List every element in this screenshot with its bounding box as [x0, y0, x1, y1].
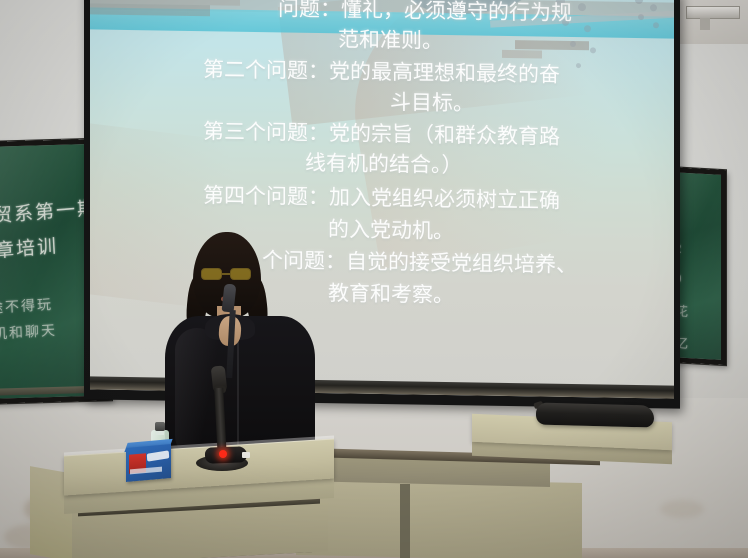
light-bracket	[700, 18, 710, 30]
glasses-icon	[201, 268, 255, 281]
glasses-bridge	[222, 273, 230, 275]
red-led-indicator	[219, 450, 227, 458]
ceiling-light-icon	[686, 6, 740, 19]
slide-line: 的入党动机。	[328, 219, 454, 242]
chalk-line: 机和聊天	[0, 320, 57, 344]
side-desk-body	[296, 477, 582, 558]
slide-line: 教育和考察。	[328, 283, 454, 306]
glasses-lens-right	[230, 268, 251, 280]
chalk-line: 途不得玩	[0, 294, 53, 318]
coat-shading	[175, 328, 219, 458]
black-case	[536, 402, 654, 427]
slide-line: 斗目标。	[390, 92, 474, 114]
chalk-line: 章培训	[0, 231, 59, 263]
slide-line: 问题：懂礼，必须遵守的行为规	[278, 0, 572, 24]
slide-line: 第二个问题：党的最高理想和最终的奋	[203, 59, 560, 86]
wall-stain	[660, 500, 704, 518]
slide-line: 线有机的结合。）	[305, 153, 463, 176]
bottle-cap	[155, 422, 165, 431]
speaker	[165, 232, 315, 462]
lecture-hall-photo: 贸系第一期 章培训 途不得玩 机和聊天 2 0 花 忆	[0, 0, 748, 558]
side-desk-leg	[400, 484, 410, 558]
small-white-object	[242, 452, 250, 458]
slide-line: 第四个问题：加入党组织必须树立正确	[203, 185, 560, 212]
glasses-lens-left	[201, 268, 222, 280]
slide-line: 范和准则。	[338, 29, 443, 52]
slide-line: 第三个问题：党的宗旨（和群众教育路	[203, 121, 560, 148]
